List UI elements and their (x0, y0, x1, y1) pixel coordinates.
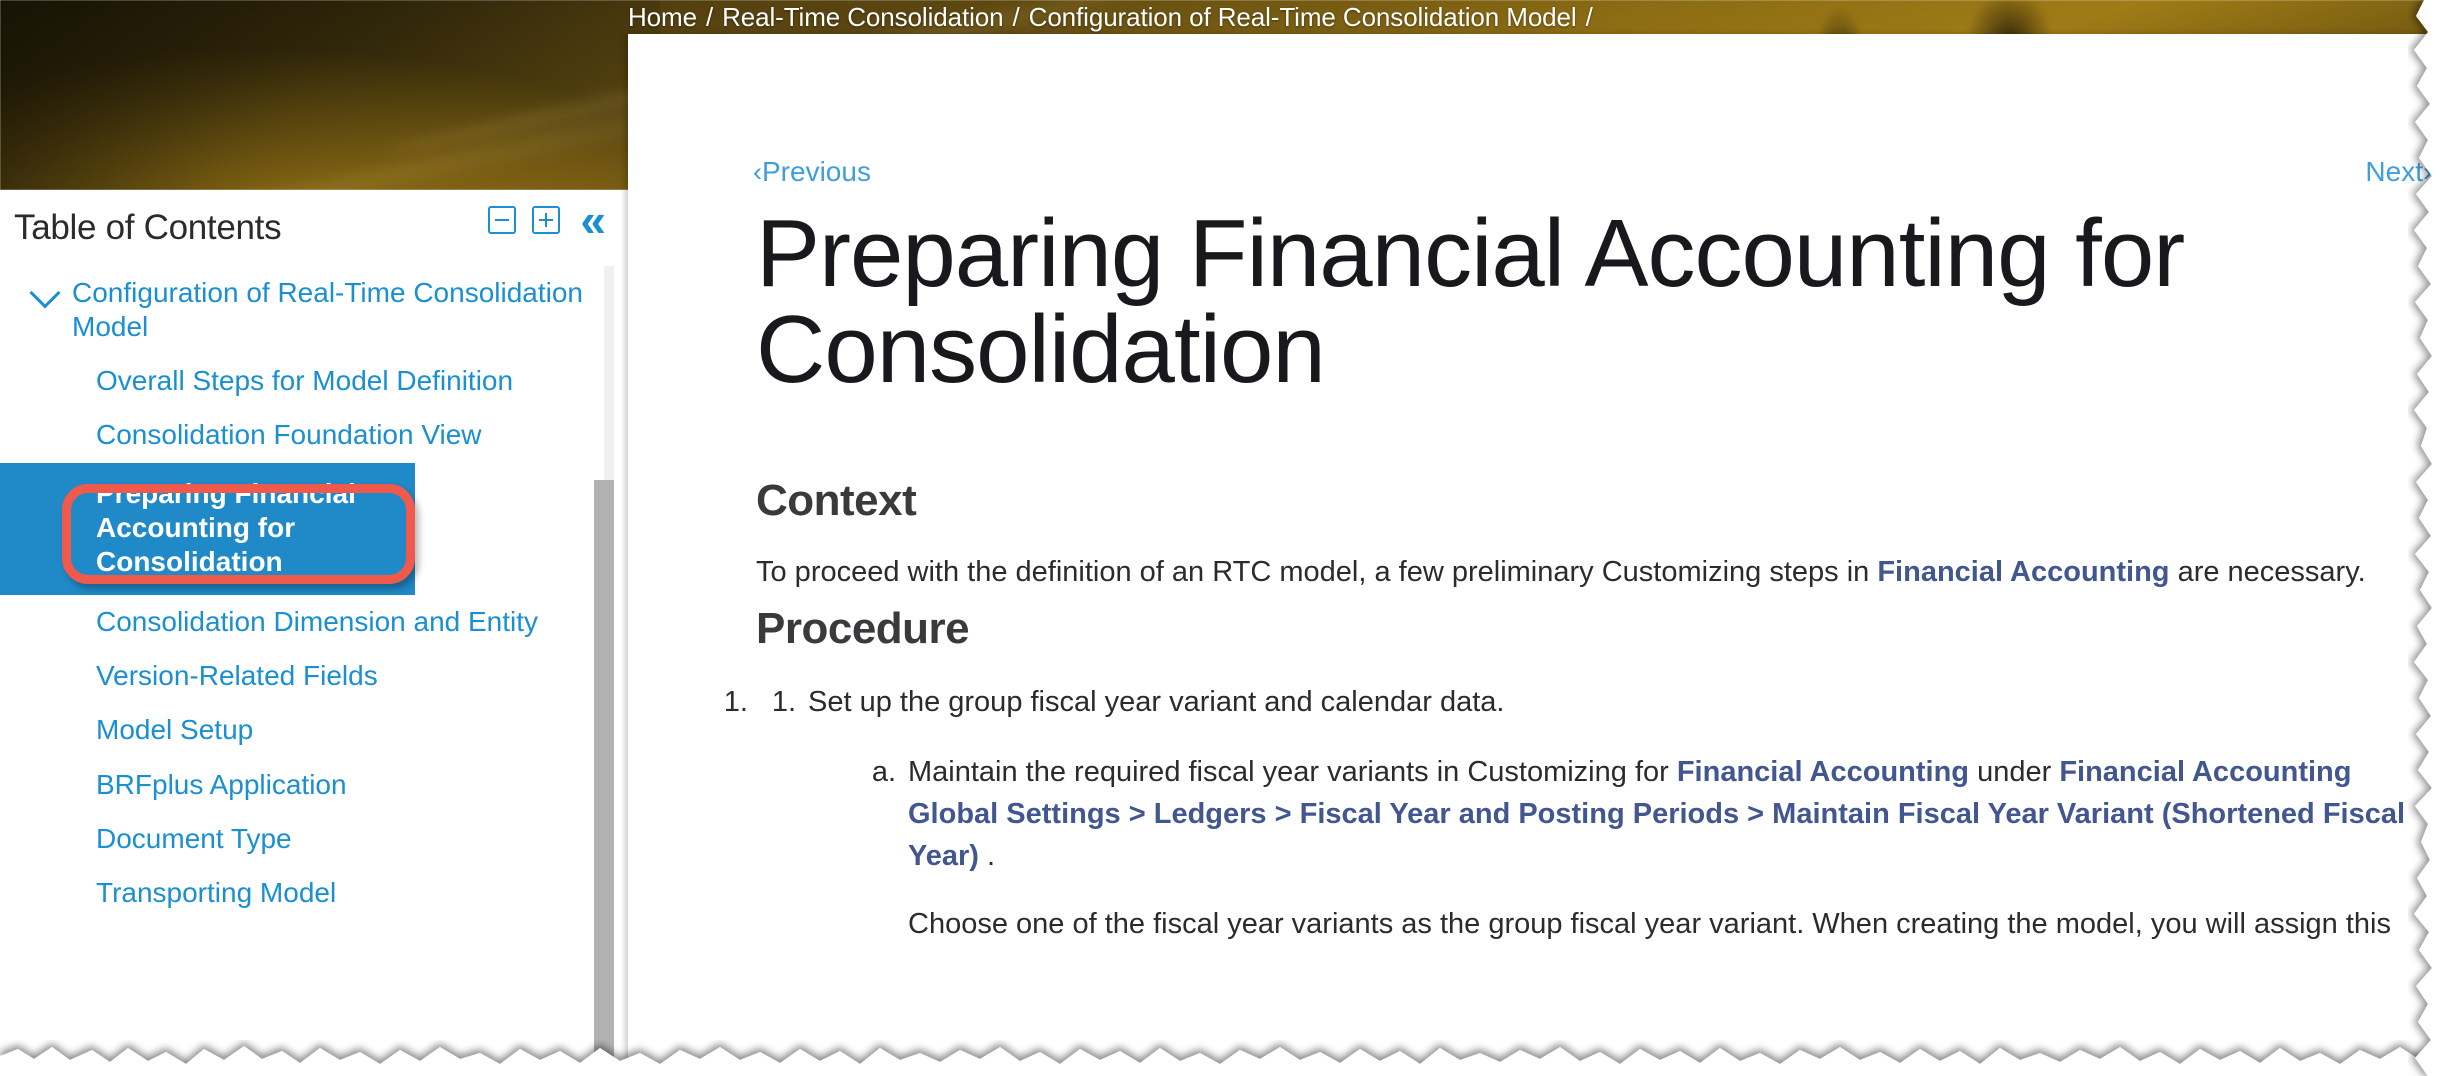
hero-shadow-overlay (0, 0, 660, 190)
link-financial-accounting[interactable]: Financial Accounting (1877, 556, 2169, 588)
content-panel: ‹Previous Next› Preparing Financial Acco… (628, 34, 2442, 1076)
path-separator: > (1267, 798, 1300, 830)
toc-item-brfplus-application[interactable]: BRFplus Application (0, 758, 628, 812)
procedure-step-1-text: Set up the group fiscal year variant and… (808, 686, 1504, 718)
next-page-link[interactable]: Next› (2365, 156, 2432, 188)
toc-item-document-type[interactable]: Document Type (0, 812, 628, 866)
breadcrumb-item-configuration-of-rtc-model[interactable]: Configuration of Real-Time Consolidation… (1029, 2, 1577, 33)
link-financial-accounting-2[interactable]: Financial Accounting (1677, 756, 1969, 788)
toc-item-label: Configuration of Real-Time Consolidation… (72, 277, 583, 342)
toc-item-label: Transporting Model (96, 877, 336, 908)
section-heading-context: Context (756, 476, 916, 526)
toc-item-model-setup[interactable]: Model Setup (0, 703, 628, 757)
chevron-right-icon: › (2423, 157, 2432, 188)
plus-box-icon[interactable] (532, 206, 560, 234)
minus-box-icon[interactable] (488, 206, 516, 234)
breadcrumb-item-home[interactable]: Home (628, 2, 697, 33)
context-text-after: are necessary. (2170, 556, 2366, 588)
toc-item-transporting-model[interactable]: Transporting Model (0, 866, 628, 920)
substep-text-3: . (979, 840, 995, 872)
procedure-sub-list: a. Maintain the required fiscal year var… (808, 751, 2416, 945)
substep-paragraph-2: Choose one of the fiscal year variants a… (908, 903, 2416, 945)
toc-item-label: Preparing Financial Accounting for Conso… (96, 478, 356, 577)
toc-title: Table of Contents (14, 208, 281, 248)
toc-item-label: BRFplus Application (96, 769, 347, 800)
table-of-contents-sidebar: Table of Contents « Configuration of Rea… (0, 190, 628, 1076)
toc-item-label: Document Type (96, 823, 292, 854)
toc-item-label: Model Setup (96, 714, 253, 745)
toc-list: Configuration of Real-Time Consolidation… (0, 266, 628, 1076)
page-navigation-links: ‹Previous Next› (628, 34, 2442, 144)
breadcrumb-separator-trailing: / (1577, 2, 1602, 33)
breadcrumb-separator: / (1004, 2, 1029, 33)
toc-item-label: Consolidation Foundation View (96, 419, 482, 450)
chevron-left-icon: ‹ (753, 157, 762, 188)
path-separator: > (1739, 798, 1772, 830)
toc-item-consolidation-foundation-view[interactable]: Consolidation Foundation View (0, 408, 628, 462)
toc-scrollbar-thumb[interactable] (594, 480, 614, 1076)
procedure-step-1: 1. Set up the group fiscal year variant … (756, 682, 2416, 945)
toc-item-overall-steps-for-model-definition[interactable]: Overall Steps for Model Definition (0, 354, 628, 408)
toc-item-version-related-fields[interactable]: Version-Related Fields (0, 649, 628, 703)
toc-actions: « (488, 206, 600, 234)
procedure-step-marker: 1. (756, 682, 796, 723)
breadcrumb: Home / Real-Time Consolidation / Configu… (628, 0, 1602, 34)
double-chevron-left-icon[interactable]: « (580, 206, 600, 234)
path-separator: > (1121, 798, 1154, 830)
toc-header: Table of Contents « (0, 190, 628, 266)
toc-item-label: Overall Steps for Model Definition (96, 365, 513, 396)
context-text-before: To proceed with the definition of an RTC… (756, 556, 1877, 588)
context-paragraph: To proceed with the definition of an RTC… (756, 552, 2376, 593)
previous-page-link[interactable]: ‹Previous (753, 156, 871, 188)
next-page-label: Next (2365, 156, 2423, 188)
procedure-list: 1. Set up the group fiscal year variant … (756, 682, 2416, 945)
breadcrumb-separator: / (697, 2, 722, 33)
toc-item-label: Version-Related Fields (96, 660, 378, 691)
section-heading-procedure: Procedure (756, 604, 969, 654)
toc-item-configuration-of-rtc-model[interactable]: Configuration of Real-Time Consolidation… (0, 266, 628, 354)
documentation-page-screenshot: Home / Real-Time Consolidation / Configu… (0, 0, 2442, 1076)
toc-item-preparing-financial-accounting-for-consolidation[interactable]: Preparing Financial Accounting for Conso… (0, 463, 415, 595)
previous-page-label: Previous (762, 156, 871, 188)
chevron-down-icon[interactable] (29, 277, 60, 308)
toc-item-label: Consolidation Dimension and Entity (96, 606, 538, 637)
procedure-step-1a: a. Maintain the required fiscal year var… (866, 751, 2416, 945)
breadcrumb-item-real-time-consolidation[interactable]: Real-Time Consolidation (722, 2, 1003, 33)
procedure-substep-marker: a. (866, 751, 896, 793)
link-fiscal-year-and-posting-periods[interactable]: Fiscal Year and Posting Periods (1300, 798, 1739, 830)
substep-text-2: under (1969, 756, 2059, 788)
page-title: Preparing Financial Accounting for Conso… (756, 206, 2316, 398)
substep-text-1: Maintain the required fiscal year varian… (908, 756, 1677, 788)
toc-item-consolidation-dimension-and-entity[interactable]: Consolidation Dimension and Entity (0, 595, 628, 649)
link-ledgers[interactable]: Ledgers (1154, 798, 1267, 830)
